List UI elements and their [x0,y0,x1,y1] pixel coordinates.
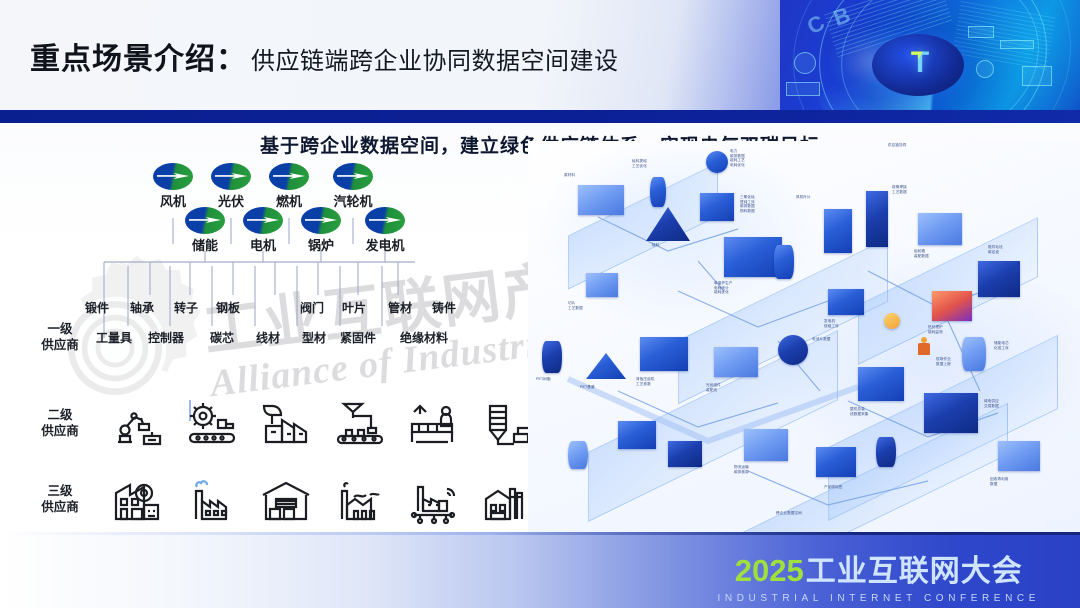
iso-node [824,209,852,253]
iso-node [586,273,618,297]
circuit-node-icon [976,60,994,78]
slide-header: C B T 重点场景介绍： 供应链端跨企业协同数据空间建设 [0,0,1080,110]
header-tech-graphic: C B T [780,0,1080,110]
warehouse-icon[interactable] [258,475,314,525]
iso-node-label: 储能电芯化成工序 [994,341,1009,350]
equipment-item-chuneng[interactable]: 储能 [177,207,233,254]
iso-node-label: 电力碳排数据能耗工艺电耗优化 [730,149,745,167]
equipment-label: 锅炉 [293,235,349,254]
energy-arrow-logo-icon [211,163,251,190]
iso-node [858,367,904,401]
equipment-item-ranji[interactable]: 燃机 [261,163,317,210]
iso-node [568,441,588,469]
iso-node [998,441,1040,471]
equipment-item-fadianji[interactable]: 发电机 [357,207,413,254]
production-line-worker-icon[interactable] [406,398,462,448]
iso-node-label: 发电机绕组工序 [824,319,839,328]
iso-node [542,341,562,373]
iso-node-label: 光伏组件装配线 [706,383,721,392]
iso-node [578,185,624,215]
component-label-upper[interactable]: 阀门 [300,299,324,316]
iso-node-label: 锻件毛坯碳足迹 [988,245,1003,254]
energy-arrow-logo-icon [301,207,341,234]
equipment-item-qilunji[interactable]: 汽轮机 [325,163,381,210]
iso-node [618,421,656,449]
iso-node-label: 风机叶片 [796,195,811,200]
iso-highlight-node [884,313,900,329]
iso-node-label: 绿电供应交易数据 [984,399,999,408]
iso-node-label: 物流运输碳排核算 [734,465,749,474]
component-label-upper[interactable]: 管材 [388,299,412,316]
t-emblem-icon: T [904,46,936,80]
tier3-icon-row [110,475,536,525]
iso-node [816,447,856,477]
tier-label-line2: 供应商 [23,499,97,515]
iso-node [778,335,808,365]
iso-node-label: 跨企业数据空间 [776,511,802,516]
iso-node-label: 电池片数据 [812,337,830,342]
tier-label-3: 三级 供应商 [23,483,97,515]
page-title: 重点场景介绍： 供应链端跨企业协同数据空间建设 [30,34,619,78]
iso-node-label: 原材料 [564,173,575,178]
isometric-supply-chain-diagram: 原材料 硅料提纯工艺优化 电力碳排数据能耗工艺电耗优化 硅料 三氧化硅提纯工序碳… [528,141,1080,532]
iso-node [700,193,734,221]
smokestack-factory-icon[interactable] [184,475,240,525]
iso-node-label: PET基膜 [580,385,595,390]
component-label-lower[interactable]: 绝缘材料 [400,329,448,346]
component-label-lower[interactable]: 紧固件 [340,329,376,346]
iso-node-label: 硅料提纯工艺优化 [632,159,647,168]
slide-root: C B T 重点场景介绍： 供应链端跨企业协同数据空间建设 基于跨企业数据空间，… [0,0,1080,608]
slide-footer: 2025 工业互联网大会 INDUSTRIAL INTERNET CONFERE… [0,532,1080,608]
component-label-lower[interactable]: 工量具 [96,329,132,346]
iso-node-label: 切片工艺数据 [568,301,583,310]
energy-arrow-logo-icon [185,207,225,234]
iso-node-label: 整机总装线数据采集 [850,407,868,416]
iso-node-label: 齿轮箱装配数据 [914,249,929,258]
iso-node-label: 供应链协同 [888,143,906,148]
tier-label-1: 一级 供应商 [23,321,97,353]
tier-label-line2: 供应商 [23,423,97,439]
component-label-lower[interactable]: 线材 [256,329,280,346]
iso-node [668,441,702,467]
iso-node-label: 热处理炉能耗监测 [928,325,943,334]
equipment-label: 电机 [235,235,291,254]
equipment-item-dianji[interactable]: 电机 [235,207,291,254]
component-label-lower[interactable]: 碳芯 [210,329,234,346]
eco-factory-icon[interactable] [258,398,314,448]
iso-node-label: 回收再利用数据 [990,477,1008,486]
header-accent-band [0,110,1080,123]
robot-arm-icon[interactable] [110,398,166,448]
iso-node-label: 硅料 [652,243,659,248]
footer-divider [0,532,1080,535]
tier-label-line1: 三级 [23,483,97,499]
component-label-upper[interactable]: 叶片 [342,299,366,316]
slide-body: 基于跨企业数据空间，建立绿色供应链体系，实现电气双碳目标 工业互联网产业联盟 A… [0,123,1080,532]
component-label-lower[interactable]: 型材 [302,329,326,346]
chimney-plant-icon[interactable] [332,475,388,525]
component-label-upper[interactable]: 轴承 [130,299,154,316]
equipment-item-guolu[interactable]: 锅炉 [293,207,349,254]
conference-logo-year: 2025 [735,553,804,589]
tier-label-line1: 一级 [23,321,97,337]
iso-node-label: 塔筒焊接工艺数据 [892,185,907,194]
iso-node [774,245,794,279]
energy-arrow-logo-icon [243,207,283,234]
equipment-item-guangfu[interactable]: 光伏 [203,163,259,210]
equipment-item-fengji[interactable]: 风机 [145,163,201,210]
assembly-crane-icon[interactable] [332,398,388,448]
circuit-node-icon [794,52,816,74]
energy-arrow-logo-icon [333,163,373,190]
gear-conveyor-icon[interactable] [184,398,240,448]
iso-node [978,261,1020,297]
iso-node [918,213,962,245]
component-label-upper[interactable]: 钢板 [216,299,240,316]
iso-node [650,177,666,207]
circuit-chip-icon [1022,66,1052,86]
circuit-chip-icon [968,26,994,38]
equipment-label: 发电机 [357,235,413,254]
tier2-icon-row [110,398,536,448]
iot-connected-plant-icon[interactable] [406,475,462,525]
iso-node [706,151,728,173]
iso-node [924,393,978,433]
iso-node-label: 三氧化硅提纯工序碳排数据物料数据 [740,195,755,213]
tier-label-2: 二级 供应商 [23,407,97,439]
circuit-chip-icon [1000,40,1034,49]
iso-node-label: 产品碳标签 [824,485,842,490]
iso-node-label: 背板压延机工艺参数 [636,377,654,386]
component-label-upper[interactable]: 转子 [174,299,198,316]
energy-arrow-logo-icon [153,163,193,190]
iso-worker-figure [916,337,932,357]
conference-logo-primary: 2025 工业互联网大会 [718,546,1040,590]
component-label-upper[interactable]: 铸件 [432,299,456,316]
factory-gear-icon[interactable] [110,475,166,525]
iso-node [828,289,864,315]
iso-node [744,429,788,461]
conference-logo: 2025 工业互联网大会 INDUSTRIAL INTERNET CONFERE… [718,546,1040,604]
iso-node [932,291,972,321]
component-label-lower[interactable]: 控制器 [148,329,184,346]
conference-logo-en: INDUSTRIAL INTERNET CONFERENCE [718,593,1040,604]
worker-body [918,343,930,355]
equipment-label: 储能 [177,235,233,254]
iso-node [640,337,688,371]
iso-node-label: 单晶炉生产电耗统计能耗优化 [714,281,732,295]
page-title-main: 重点场景介绍： [30,34,247,78]
component-label-upper[interactable]: 锻件 [85,299,109,316]
iso-node [714,347,758,377]
page-title-sub: 供应链端跨企业协同数据空间建设 [251,41,619,76]
tier-label-line1: 二级 [23,407,97,423]
iso-node [876,437,896,467]
iso-node-label: PET树脂 [536,377,551,382]
energy-arrow-logo-icon [269,163,309,190]
iso-node [866,191,888,247]
circuit-chip-icon [786,82,820,96]
iso-node-label: 现场作业数据上报 [936,357,951,366]
tier-label-line2: 供应商 [23,337,97,353]
conference-logo-cn: 工业互联网大会 [806,546,1023,590]
iso-node [962,337,986,371]
energy-arrow-logo-icon [365,207,405,234]
